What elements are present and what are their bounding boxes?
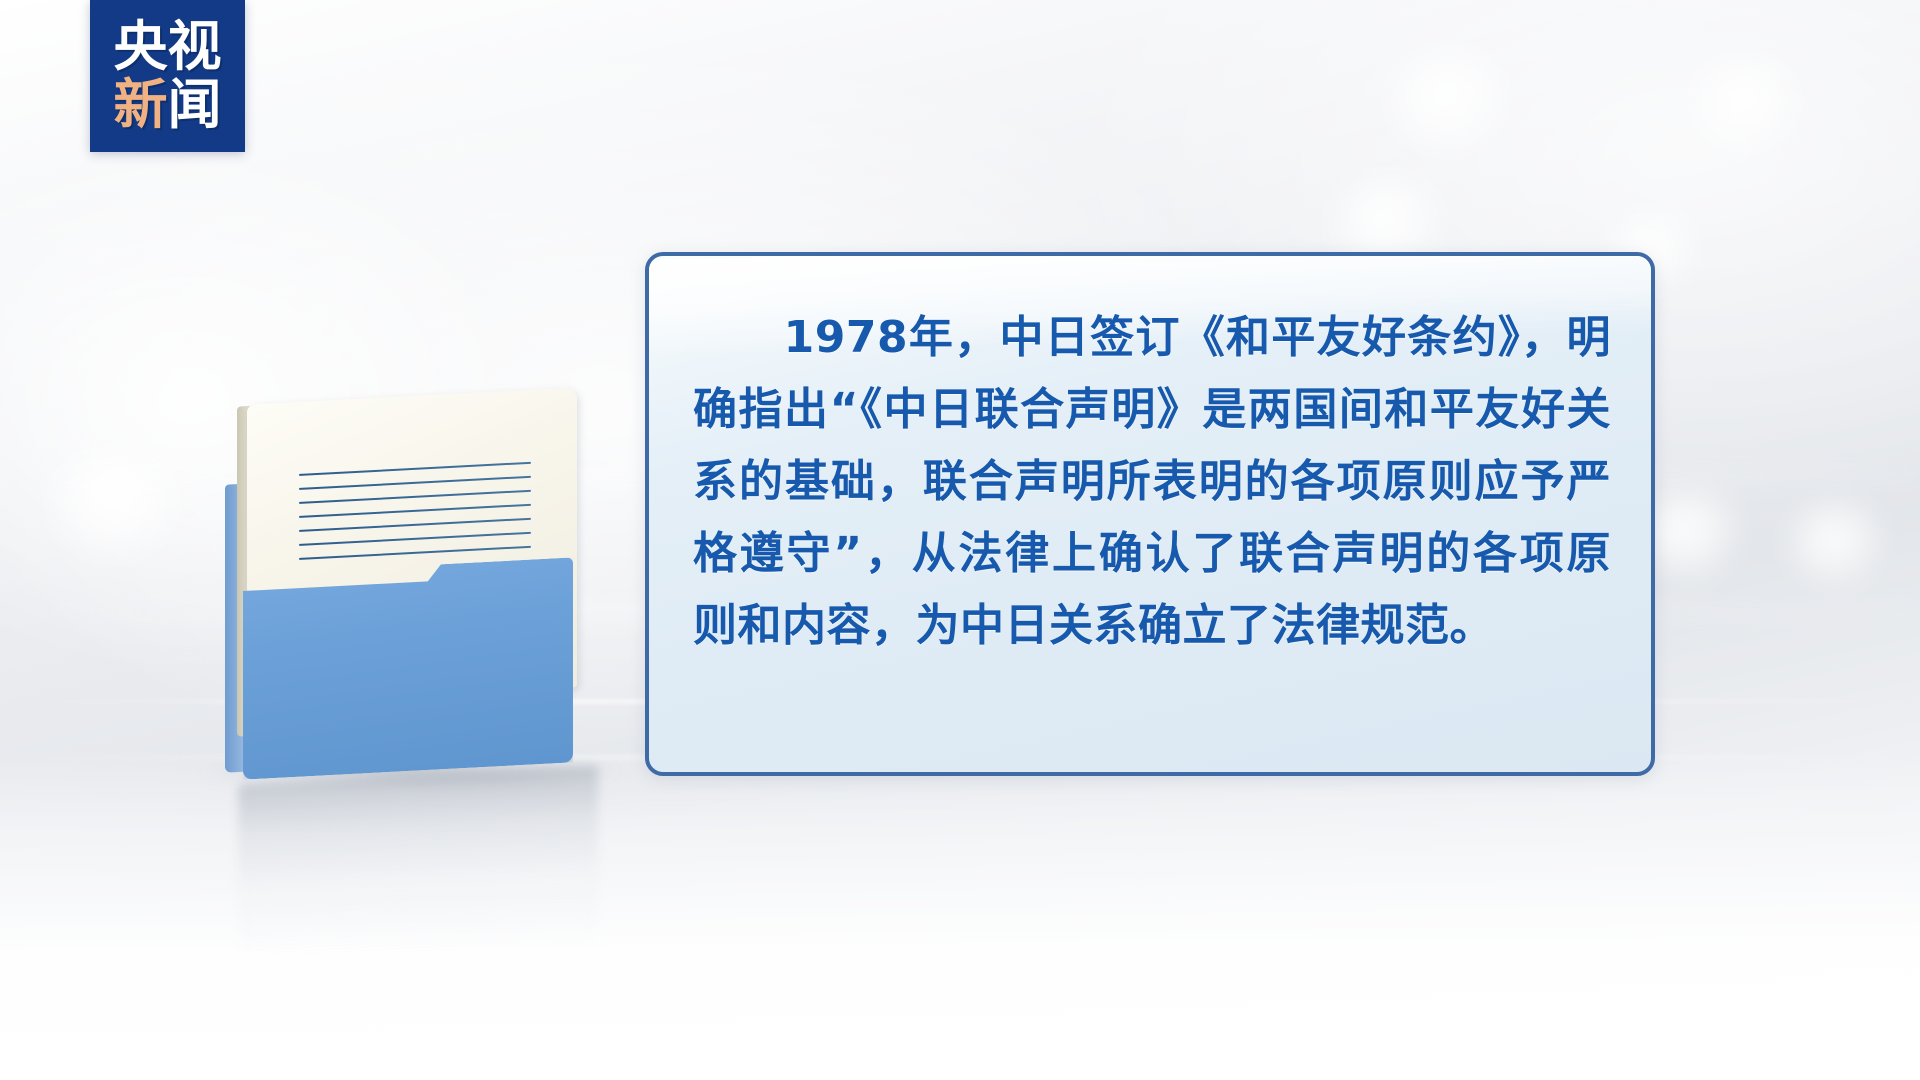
logo-line-2: 新 闻 (114, 78, 222, 132)
document-rule-line (299, 504, 531, 518)
document-rule-line (299, 490, 531, 504)
folder-reflection (238, 765, 598, 964)
card-body: 1978年，中日签订《和平友好条约》，明确指出“《中日联合声明》是两国间和平友好… (649, 256, 1651, 662)
document-rule-line (299, 462, 531, 476)
logo-line-1: 央 视 (114, 20, 222, 74)
document-rule-line (299, 546, 531, 560)
broadcast-graphic-canvas: 央 视 新 闻 1978年，中日签订《和平友好条约》，明确指出“《中日联合声明》… (0, 0, 1920, 1080)
background-orb (1387, 53, 1517, 154)
logo-char-xin: 新 (114, 78, 168, 132)
background-orb (50, 450, 190, 559)
logo-char-yang: 央 (114, 20, 168, 74)
document-rule-line (299, 532, 531, 546)
quote-card: 1978年，中日签订《和平友好条约》，明确指出“《中日联合声明》是两国间和平友好… (645, 252, 1655, 776)
logo-char-shi: 视 (168, 20, 222, 74)
logo-char-wen: 闻 (168, 78, 222, 132)
card-paragraph: 1978年，中日签订《和平友好条约》，明确指出“《中日联合声明》是两国间和平友好… (693, 302, 1611, 662)
document-rule-line (299, 476, 531, 490)
background-orb (1689, 61, 1807, 153)
document-folder-icon (225, 388, 605, 788)
document-rule-line (299, 518, 531, 532)
document-text-lines (299, 462, 531, 572)
folder-front-flap (243, 557, 573, 779)
background-orb (1788, 506, 1888, 584)
cctv-news-logo: 央 视 新 闻 (90, 0, 245, 152)
